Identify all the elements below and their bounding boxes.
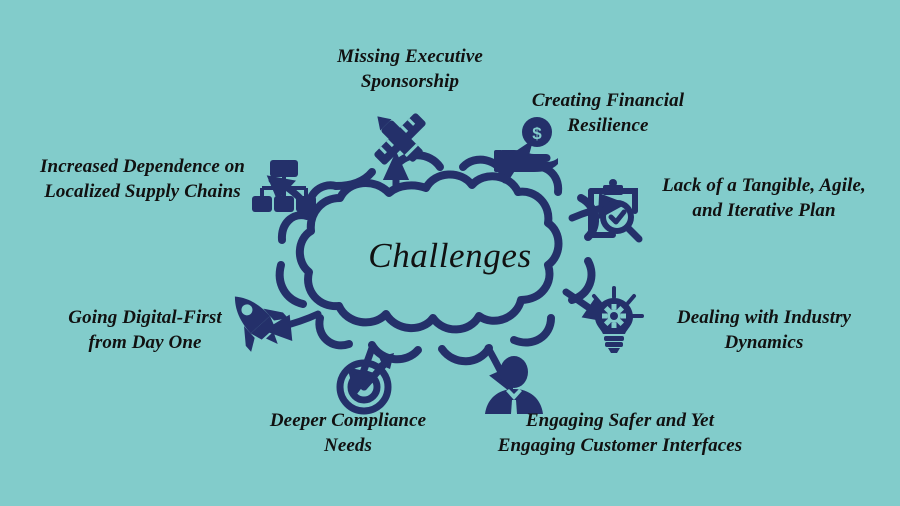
slide-canvas: $ xyxy=(0,0,900,506)
node-label-compliance-needs: Deeper Compliance Needs xyxy=(248,408,448,458)
node-label-executive-sponsorship: Missing Executive Sponsorship xyxy=(315,44,505,94)
node-label-supply-chains: Increased Dependence on Localized Supply… xyxy=(35,154,250,204)
target-dart-icon xyxy=(340,353,394,411)
node-label-digital-first: Going Digital-First from Day One xyxy=(45,305,245,355)
node-label-customer-interfaces: Engaging Safer and Yet Engaging Customer… xyxy=(485,408,755,458)
center-label: Challenges xyxy=(0,236,900,276)
node-label-iterative-plan: Lack of a Tangible, Agile, and Iterative… xyxy=(650,173,878,223)
lightbulb-gear-icon xyxy=(586,288,642,353)
hierarchy-icon xyxy=(252,160,316,212)
node-label-industry-dynamics: Dealing with Industry Dynamics xyxy=(650,305,878,355)
node-label-financial-resilience: Creating Financial Resilience xyxy=(513,88,703,138)
